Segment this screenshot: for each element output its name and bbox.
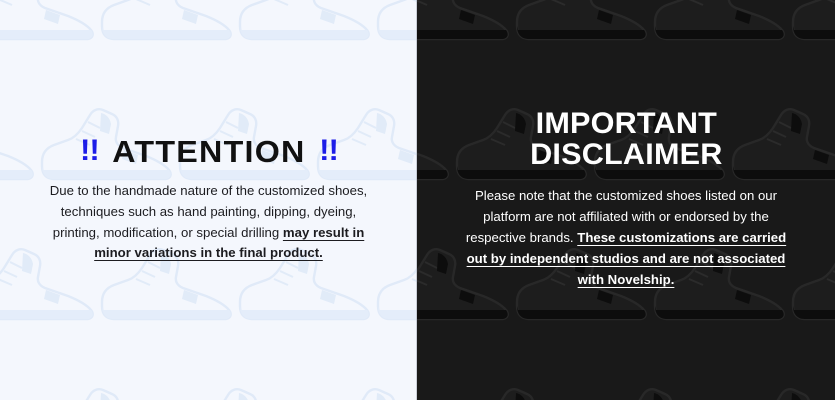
- attention-body: Due to the handmade nature of the custom…: [49, 181, 369, 264]
- attention-content: !! ATTENTION !! Due to the handmade natu…: [0, 0, 417, 400]
- attention-heading: !! ATTENTION !!: [80, 136, 338, 167]
- disclaimer-banner: !! ATTENTION !! Due to the handmade natu…: [0, 0, 835, 400]
- double-bang-right-icon: !!: [319, 136, 338, 166]
- disclaimer-heading-line-1: IMPORTANT: [530, 109, 722, 140]
- disclaimer-body: Please note that the customized shoes li…: [461, 186, 791, 290]
- disclaimer-content: IMPORTANT DISCLAIMER Please note that th…: [417, 0, 835, 400]
- attention-heading-text: ATTENTION: [112, 136, 305, 167]
- disclaimer-heading: IMPORTANT DISCLAIMER: [530, 109, 722, 170]
- disclaimer-panel: IMPORTANT DISCLAIMER Please note that th…: [417, 0, 835, 400]
- attention-panel: !! ATTENTION !! Due to the handmade natu…: [0, 0, 417, 400]
- disclaimer-heading-line-2: DISCLAIMER: [530, 140, 722, 171]
- panel-divider: [416, 0, 417, 400]
- double-bang-left-icon: !!: [80, 136, 99, 166]
